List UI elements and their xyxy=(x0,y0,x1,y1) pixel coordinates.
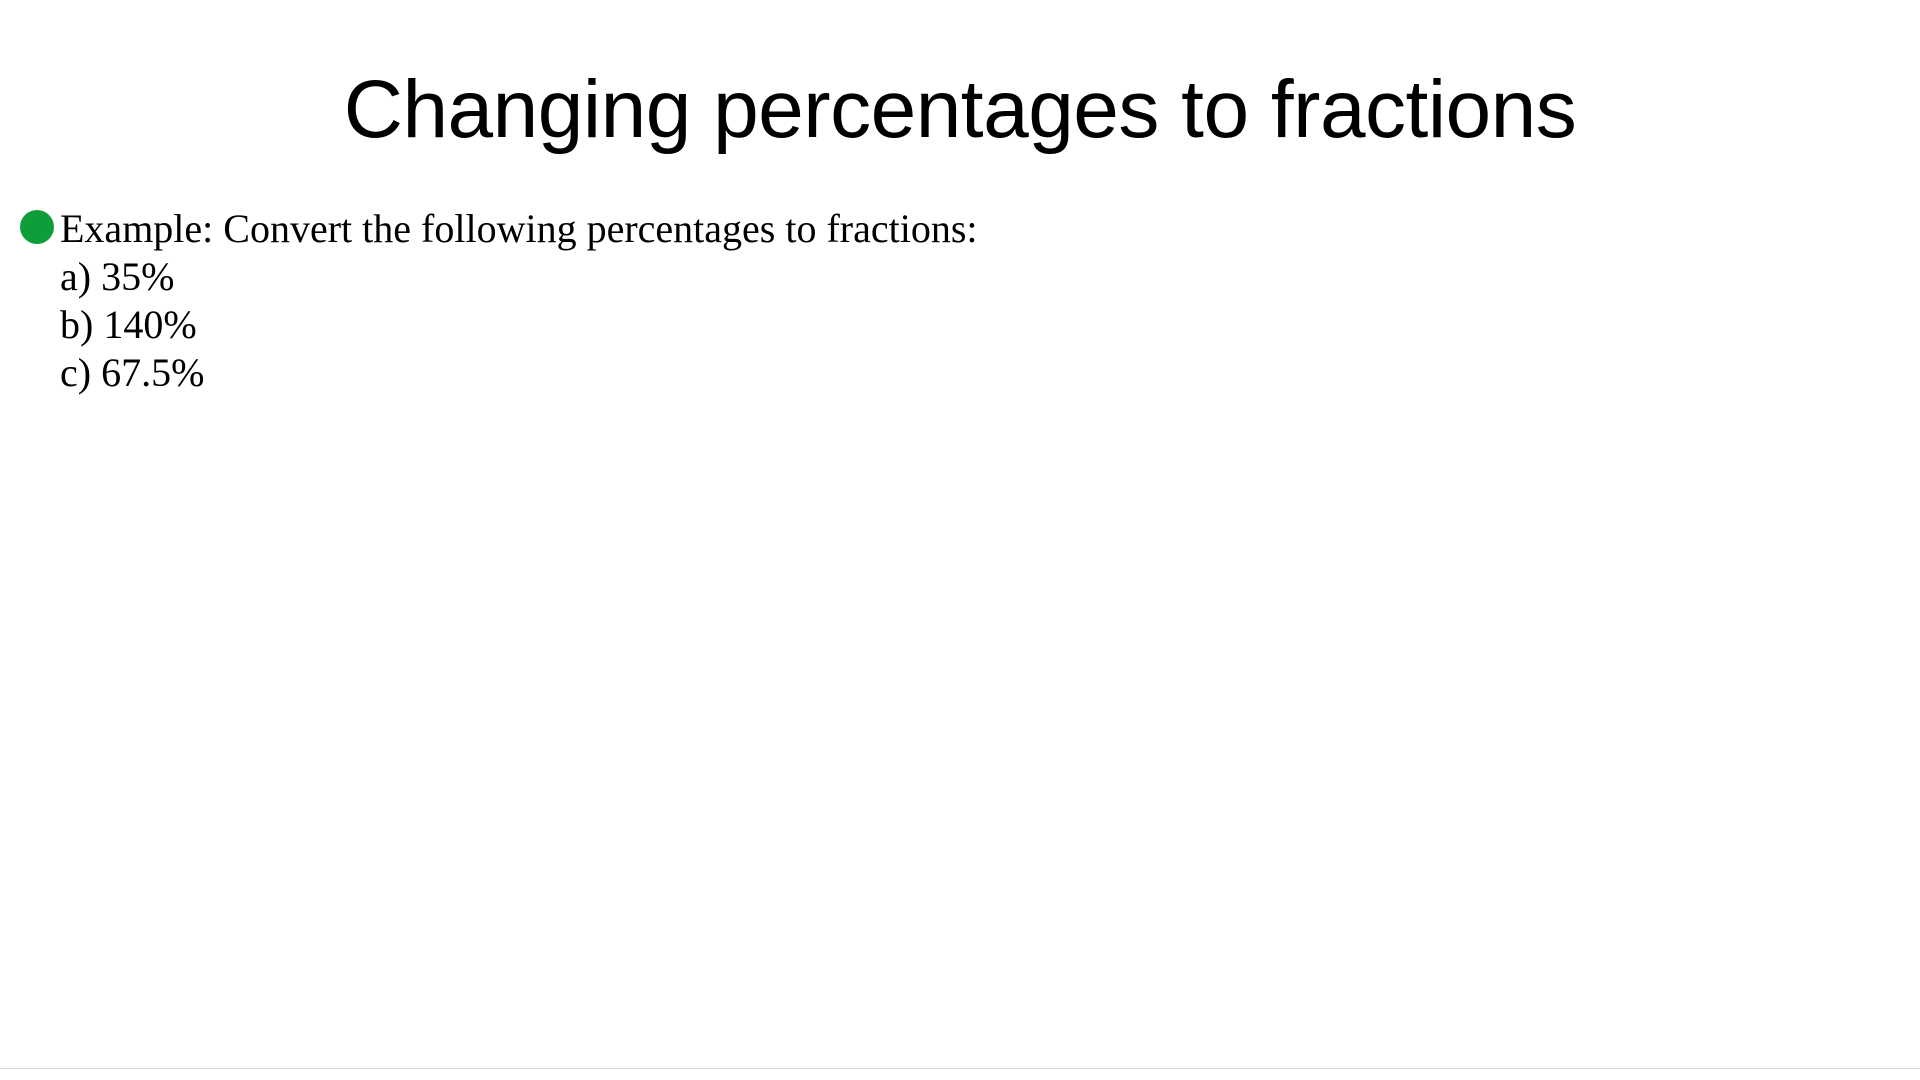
list-item: c) 67.5% xyxy=(60,349,1880,397)
list-item: a) 35% xyxy=(60,253,1880,301)
bullet-list-item: Example: Convert the following percentag… xyxy=(0,205,1880,253)
slide-canvas: Changing percentages to fractions Exampl… xyxy=(0,0,1920,1080)
body-content: Example: Convert the following percentag… xyxy=(0,205,1880,397)
page-title: Changing percentages to fractions xyxy=(0,62,1920,158)
bullet-item-label: Example: Convert the following percentag… xyxy=(60,205,978,253)
divider xyxy=(0,1068,1920,1069)
green-circle-bullet-icon xyxy=(20,210,54,244)
list-item: b) 140% xyxy=(60,301,1880,349)
